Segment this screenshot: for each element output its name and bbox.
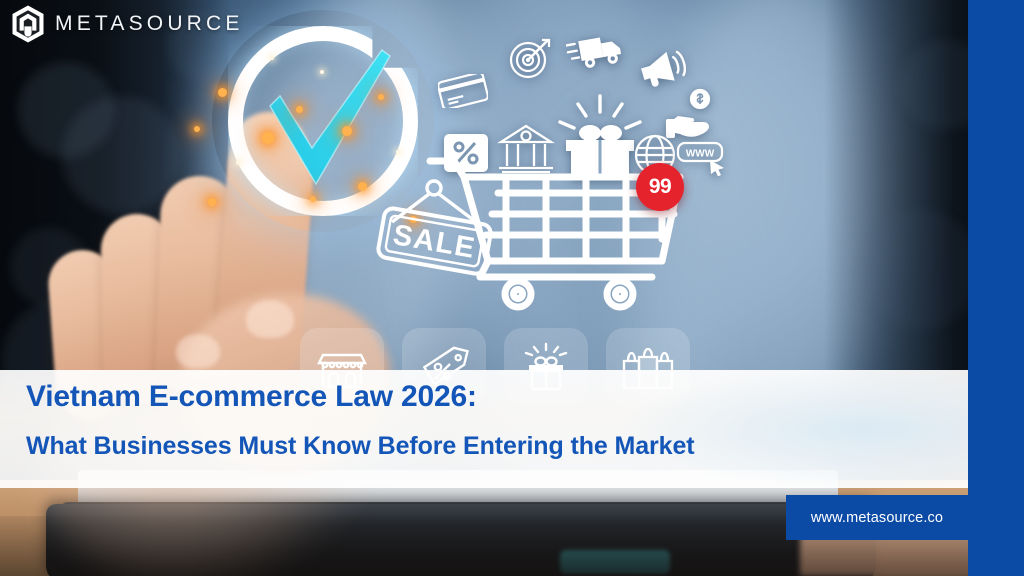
banner: WWW SALE 99 Vietnam E-commerce Law 2026:…: [0, 0, 1024, 576]
cart-count-badge: 99: [636, 163, 684, 211]
delivery-truck-icon: [566, 28, 630, 72]
bokeh-circle: [860, 210, 980, 330]
title-line-2: What Businesses Must Know Before Enterin…: [26, 434, 926, 459]
hexagon-m-logo-icon: [10, 4, 46, 44]
title-line-1: Vietnam E-commerce Law 2026:: [26, 382, 926, 412]
megaphone-icon: [636, 50, 686, 88]
website-url-text: www.metasource.co: [811, 510, 943, 526]
brand-logo[interactable]: METASOURCE: [10, 4, 244, 44]
brand-logo-text: METASOURCE: [55, 12, 244, 36]
website-url-badge[interactable]: www.metasource.co: [786, 495, 968, 540]
fingernail: [246, 300, 294, 338]
svg-text:SALE: SALE: [391, 219, 479, 265]
right-accent-bar: [968, 0, 1024, 576]
fingernail: [176, 334, 220, 368]
credit-card-icon: [438, 74, 488, 108]
page-title: Vietnam E-commerce Law 2026: What Busine…: [26, 382, 926, 459]
target-dartboard-icon: [506, 34, 554, 82]
sale-tag-icon: SALE: [372, 172, 496, 280]
